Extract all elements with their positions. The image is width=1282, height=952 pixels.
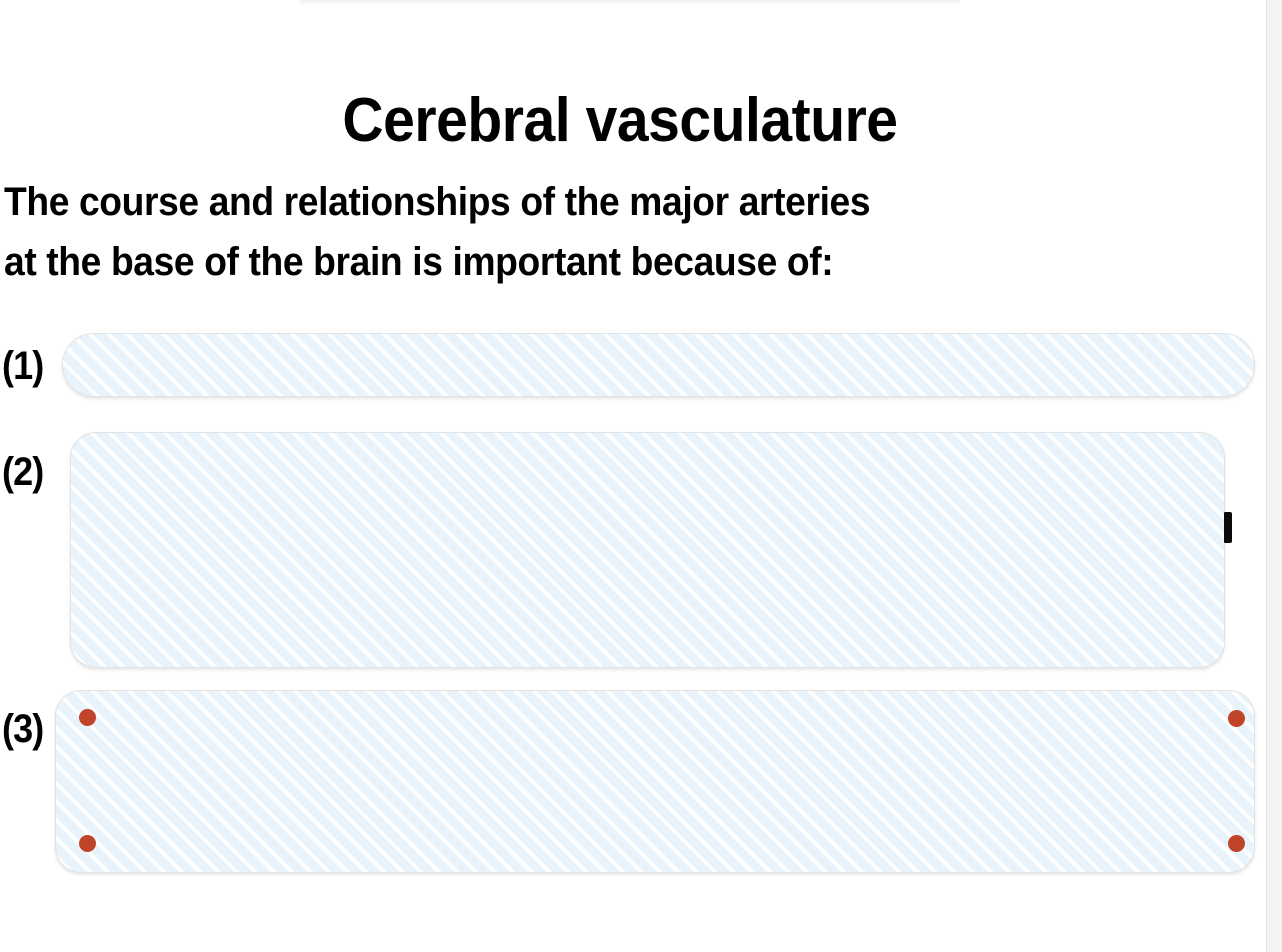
list-marker-3: (3) <box>2 707 43 752</box>
bullet-dot-icon <box>79 709 96 726</box>
top-edge-shadow <box>300 0 960 6</box>
bullet-dot-icon <box>1228 710 1245 727</box>
page-right-gutter <box>1266 0 1282 952</box>
bullet-dot-icon <box>1228 835 1245 852</box>
content-placeholder-1[interactable] <box>62 333 1255 397</box>
list-marker-2: (2) <box>2 450 43 495</box>
subtitle-line-2: at the base of the brain is important be… <box>4 232 1167 292</box>
clipped-text-glyph <box>1224 512 1232 543</box>
subtitle-line-1: The course and relationships of the majo… <box>4 172 1167 232</box>
subtitle-block: The course and relationships of the majo… <box>4 172 1167 292</box>
bullet-dot-icon <box>79 835 96 852</box>
content-placeholder-3[interactable] <box>55 690 1255 873</box>
slide-canvas: Cerebral vasculature The course and rela… <box>0 0 1266 952</box>
list-marker-1: (1) <box>2 344 43 389</box>
content-placeholder-2[interactable] <box>70 432 1225 668</box>
page-title: Cerebral vasculature <box>50 90 1191 152</box>
